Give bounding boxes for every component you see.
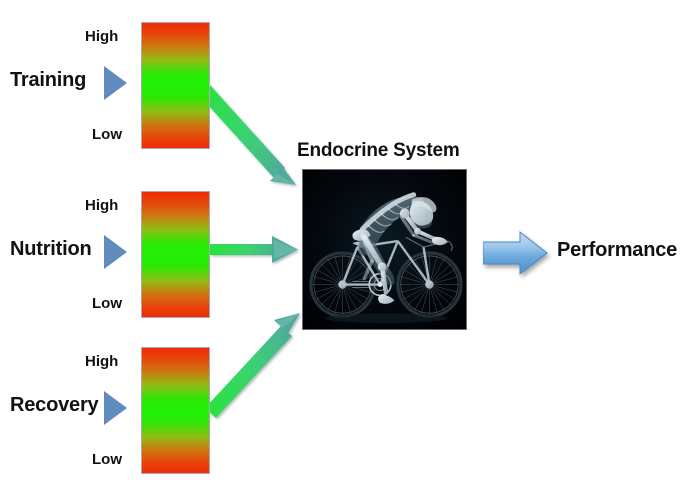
- scale-low-label-nutrition: Low: [92, 295, 122, 313]
- connector-arrow-nutrition: [210, 236, 298, 263]
- scale-bar-training[interactable]: [141, 22, 210, 149]
- center-title: Endocrine System: [297, 141, 460, 161]
- diagram-canvas: Training High Low Nutrition High Low Rec…: [0, 0, 700, 498]
- scale-high-label-recovery: High: [85, 353, 118, 371]
- triangle-right-icon-nutrition[interactable]: [104, 235, 127, 269]
- xray-cyclist-image[interactable]: [302, 169, 467, 330]
- scale-high-label-nutrition: High: [85, 197, 118, 215]
- factor-label-recovery: Recovery: [10, 395, 98, 416]
- scale-high-label-training: High: [85, 28, 118, 46]
- scale-bar-recovery[interactable]: [141, 347, 210, 474]
- scale-low-label-recovery: Low: [92, 451, 122, 469]
- block-arrow-right-icon[interactable]: [483, 229, 549, 279]
- scale-bar-nutrition[interactable]: [141, 191, 210, 318]
- scale-low-label-training: Low: [92, 126, 122, 144]
- connector-arrow-training: [198, 84, 296, 185]
- connector-arrow-recovery: [205, 313, 300, 418]
- triangle-right-icon-training[interactable]: [104, 66, 127, 100]
- factor-label-training: Training: [10, 70, 86, 91]
- outcome-label-performance: Performance: [557, 240, 677, 261]
- factor-label-nutrition: Nutrition: [10, 239, 92, 260]
- triangle-right-icon-recovery[interactable]: [104, 391, 127, 425]
